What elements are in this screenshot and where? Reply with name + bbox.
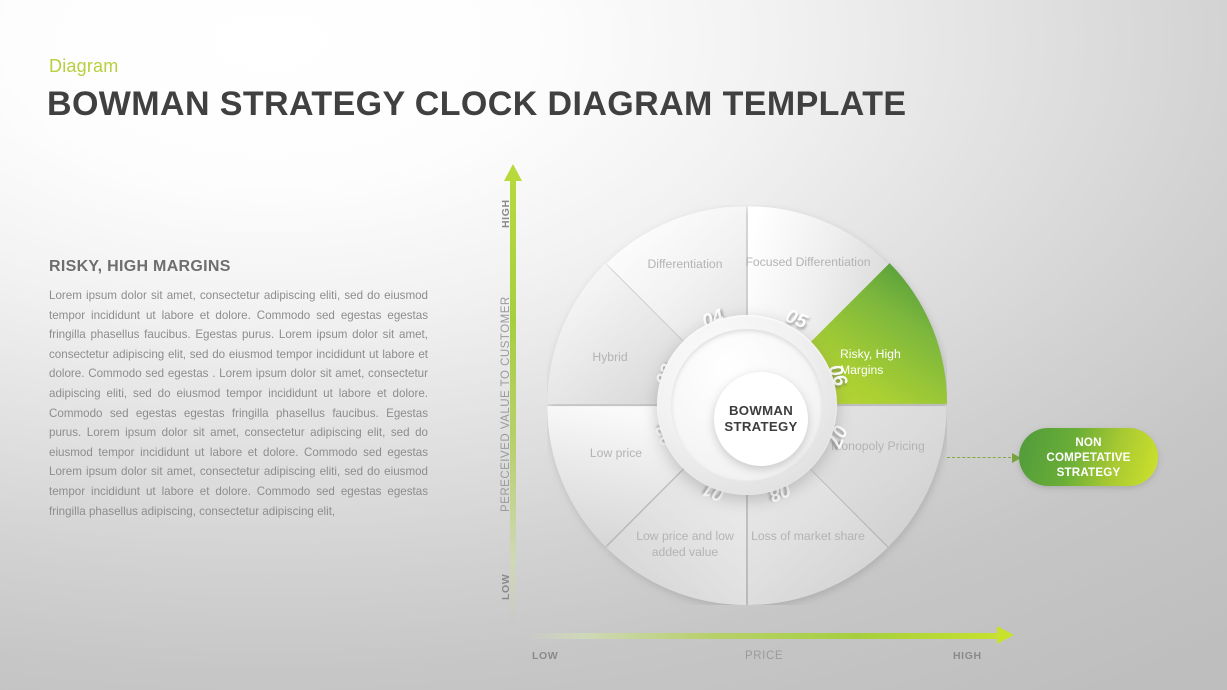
vertical-axis-low-label: LOW — [500, 574, 512, 600]
left-panel-heading: RISKY, HIGH MARGINS — [49, 258, 231, 276]
wheel-center-title: BOWMAN STRATEGY — [724, 403, 797, 435]
left-panel-body: Lorem ipsum dolor sit amet, consectetur … — [49, 286, 428, 521]
horizontal-axis-high-label: HIGH — [953, 650, 982, 662]
slide-kicker: Diagram — [49, 56, 118, 77]
non-competative-strategy-badge[interactable]: NON COMPETATIVE STRATEGY — [1019, 428, 1158, 486]
horizontal-axis-shaft — [528, 633, 998, 639]
callout-text: NON COMPETATIVE STRATEGY — [1046, 435, 1130, 480]
callout-line2: COMPETATIVE — [1046, 451, 1130, 464]
callout-line3: STRATEGY — [1057, 466, 1121, 479]
callout-line1: NON — [1075, 436, 1101, 449]
vertical-axis-high-label: HIGH — [500, 199, 512, 228]
wheel-center-line2: STRATEGY — [724, 419, 797, 434]
horizontal-axis-title: PRICE — [745, 650, 783, 662]
horizontal-axis-low-label: LOW — [532, 650, 558, 662]
horizontal-axis — [528, 630, 1014, 642]
callout-connector — [947, 454, 1021, 462]
arrow-right-icon — [997, 626, 1014, 644]
page-title: BOWMAN STRATEGY CLOCK DIAGRAM TEMPLATE — [47, 85, 907, 124]
wheel-center-line1: BOWMAN — [729, 403, 793, 418]
dashed-line — [947, 457, 1011, 458]
slide-canvas: Diagram BOWMAN STRATEGY CLOCK DIAGRAM TE… — [0, 0, 1227, 690]
wheel-hub-ring: BOWMAN STRATEGY — [671, 329, 823, 481]
wheel-hub: BOWMAN STRATEGY — [657, 315, 837, 495]
vertical-axis-title: PERECEIVED VALUE TO CUSTOMER — [500, 296, 512, 512]
wheel-hub-core: BOWMAN STRATEGY — [714, 372, 808, 466]
